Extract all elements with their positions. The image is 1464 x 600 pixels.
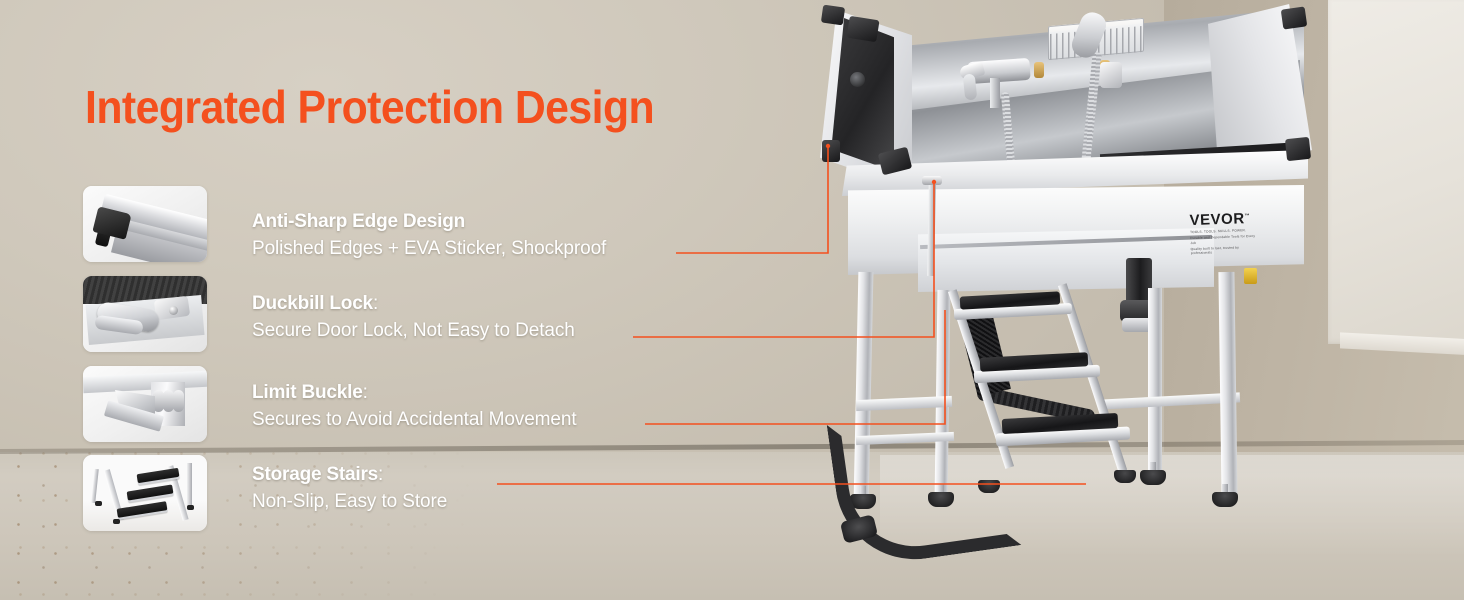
vevor-wordmark: VEVOR™ [1189, 211, 1255, 228]
eva-corner-cap-top-left [821, 5, 845, 26]
thumbnail-duckbill-lock[interactable] [83, 276, 207, 352]
stair-foot-right [1114, 470, 1136, 483]
callout-description: Non-Slip, Easy to Store [252, 489, 447, 515]
buckle-roller-3 [173, 390, 184, 412]
adjustable-foot-4 [1212, 492, 1238, 507]
product-illustration: VEVOR™ TOOLS. TOOLS. SKILLS. POWER. Dura… [800, 0, 1300, 580]
storage-stairs [946, 280, 1206, 530]
brass-fitting-1 [1034, 62, 1044, 78]
thumbnail-anti-sharp-edge[interactable] [83, 186, 207, 262]
callout-heading: Anti-Sharp Edge Design [252, 210, 606, 234]
brand-tagline-2: Durable and Dependable Tools for Every J… [1190, 234, 1256, 245]
page-title: Integrated Protection Design [85, 84, 654, 130]
brand-tagline-1: TOOLS. TOOLS. SKILLS. POWER. [1190, 228, 1256, 235]
stair-foot-2 [113, 519, 120, 524]
callout-description: Secures to Avoid Accidental Movement [252, 407, 577, 433]
stair-foot-3 [187, 505, 194, 510]
callout-limit-buckle: Limit Buckle: Secures to Avoid Accidenta… [252, 381, 577, 432]
callout-description: Secure Door Lock, Not Easy to Detach [252, 318, 575, 344]
callout-duckbill-lock: Duckbill Lock: Secure Door Lock, Not Eas… [252, 292, 575, 343]
eva-corner-cap-upper [846, 16, 879, 42]
thumbnail-limit-buckle[interactable] [83, 366, 207, 442]
stair-foot-left [978, 480, 1000, 493]
left-wing-grommet [850, 72, 865, 87]
yellow-valve-handle [1244, 268, 1257, 284]
stair-foot-1 [95, 501, 102, 506]
faucet-stem [990, 78, 1000, 108]
callout-description: Polished Edges + EVA Sticker, Shockproof [252, 236, 606, 262]
callout-heading: Limit Buckle: [252, 381, 577, 405]
vevor-logo: VEVOR™ TOOLS. TOOLS. SKILLS. POWER. Dura… [1189, 211, 1256, 249]
eva-corner-cap-mid-left [822, 140, 840, 162]
eva-corner-cap-top-right [1281, 6, 1308, 29]
wall-niche [1328, 0, 1464, 344]
shower-head-bracket [1100, 62, 1122, 88]
callout-heading: Storage Stairs: [252, 463, 447, 487]
callout-anti-sharp-edge: Anti-Sharp Edge Design Polished Edges + … [252, 210, 606, 261]
duckbill-lock-tab [922, 176, 942, 185]
callout-storage-stairs: Storage Stairs: Non-Slip, Easy to Store [252, 463, 447, 514]
callout-heading: Duckbill Lock: [252, 292, 575, 316]
infographic-canvas: Integrated Protection Design [0, 0, 1464, 600]
tub-leg-front-right [1218, 272, 1237, 500]
tub-leg-right [187, 463, 192, 507]
eva-corner-cap-lower-right [1285, 137, 1311, 161]
thumbnail-storage-stairs[interactable] [83, 455, 207, 531]
lock-stud [169, 306, 178, 315]
